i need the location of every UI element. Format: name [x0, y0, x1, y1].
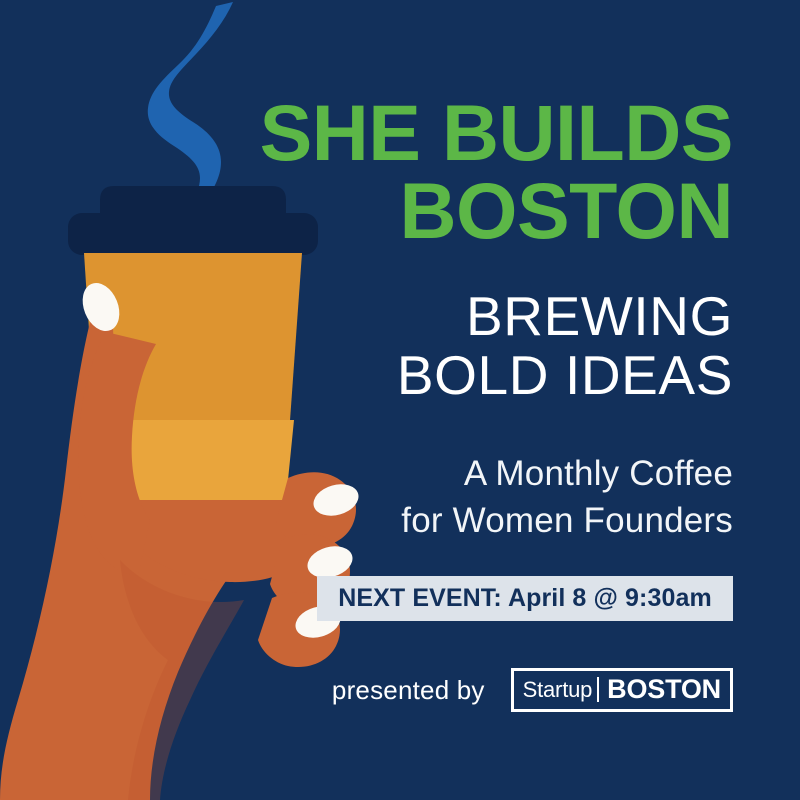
subhead-line-2: BOLD IDEAS: [113, 346, 733, 405]
headline-line-1: SHE BUILDS: [260, 88, 733, 177]
logo-word-startup: Startup: [523, 679, 593, 701]
next-event-banner: NEXT EVENT: April 8 @ 9:30am: [317, 576, 733, 621]
logo-divider: [597, 677, 599, 702]
tagline-line-1: A Monthly Coffee: [464, 454, 733, 493]
footer: presented by Startup BOSTON: [317, 667, 733, 713]
presented-by-label: presented by: [332, 675, 485, 706]
logo-word-boston: BOSTON: [607, 676, 721, 703]
headline: SHE BUILDS BOSTON: [113, 94, 733, 250]
tagline: A Monthly Coffee for Women Founders: [113, 451, 733, 544]
startup-boston-logo: Startup BOSTON: [511, 668, 733, 712]
subhead: BREWING BOLD IDEAS: [113, 287, 733, 406]
next-event-text: NEXT EVENT: April 8 @ 9:30am: [338, 584, 712, 613]
promotional-poster: SHE BUILDS BOSTON BREWING BOLD IDEAS A M…: [0, 0, 800, 800]
tagline-line-2: for Women Founders: [113, 498, 733, 545]
headline-line-2: BOSTON: [113, 172, 733, 250]
subhead-line-1: BREWING: [466, 285, 733, 347]
